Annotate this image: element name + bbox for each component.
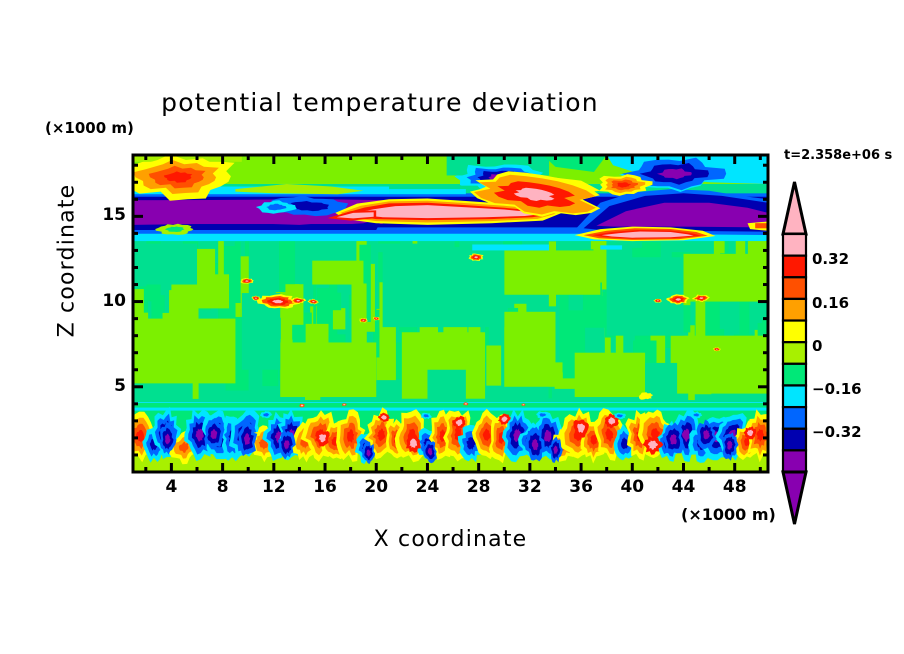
figure-canvas: potential temperature deviation (×1000 m… [0, 0, 904, 654]
x-tick-label: 28 [459, 477, 499, 497]
x-tick-label: 16 [305, 477, 345, 497]
x-tick-label: 44 [664, 477, 704, 497]
x-tick-label: 24 [407, 477, 447, 497]
x-tick-label: 4 [151, 477, 191, 497]
y-tick-label: 5 [86, 376, 126, 396]
colorbar-tick-label: 0.16 [812, 294, 849, 312]
colorbar-tick-label: −0.32 [812, 423, 862, 441]
colorbar-tick-label: 0 [812, 337, 822, 355]
x-tick-label: 8 [203, 477, 243, 497]
contour-field [115, 151, 778, 472]
y-tick-label: 15 [86, 205, 126, 225]
colorbar [783, 182, 806, 524]
x-tick-label: 32 [510, 477, 550, 497]
colorbar-tick-label: 0.32 [812, 250, 849, 268]
x-tick-label: 40 [612, 477, 652, 497]
contour-plot [0, 0, 904, 654]
x-tick-label: 36 [561, 477, 601, 497]
x-tick-label: 20 [356, 477, 396, 497]
colorbar-tick-label: −0.16 [812, 380, 862, 398]
y-tick-label: 10 [86, 291, 126, 311]
x-tick-label: 48 [715, 477, 755, 497]
x-tick-label: 12 [254, 477, 294, 497]
